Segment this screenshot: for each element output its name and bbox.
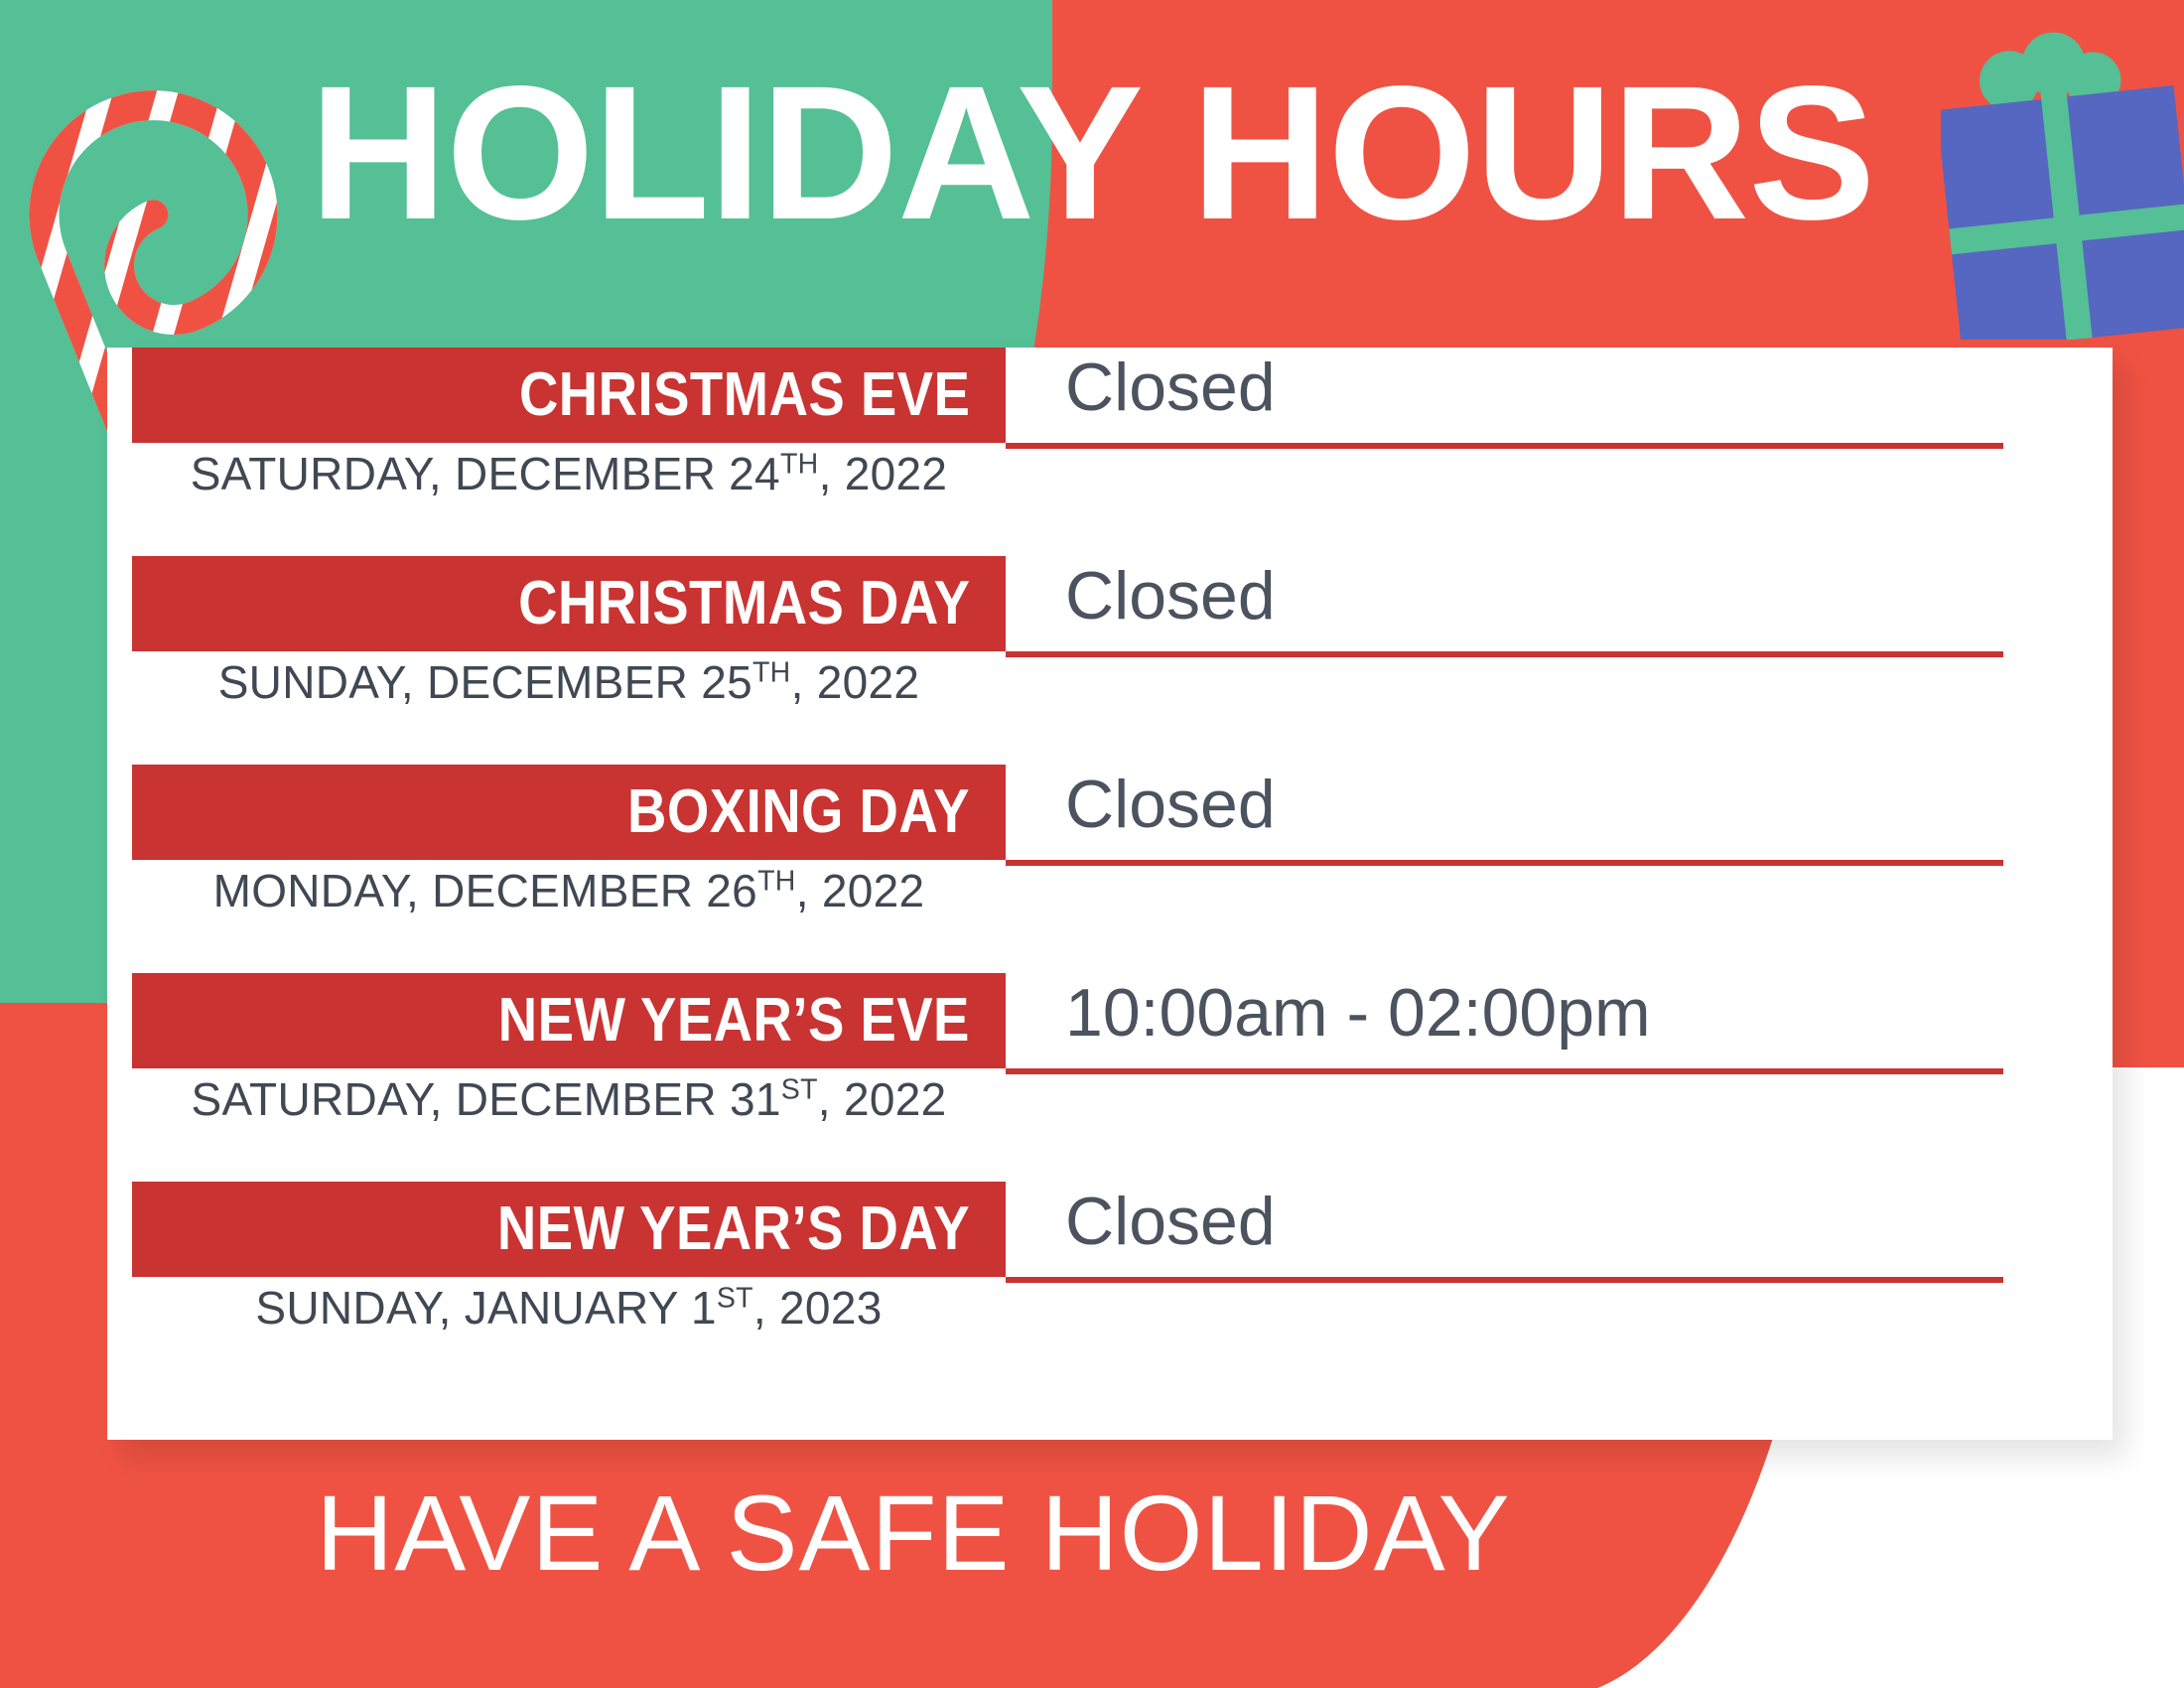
holiday-label-bar: CHRISTMAS EVE [132, 348, 1006, 443]
holiday-date-ordinal: ST [717, 1283, 753, 1315]
holiday-date-main: SUNDAY, DECEMBER 25 [218, 656, 752, 708]
holiday-date-ordinal: TH [757, 866, 796, 898]
hours-value: 10:00am - 02:00pm [1065, 979, 1651, 1047]
hours-cell: Closed [1006, 765, 2003, 864]
holiday-label: CHRISTMAS DAY [518, 573, 970, 634]
holiday-date-year: , 2022 [819, 448, 948, 499]
table-row: CHRISTMAS EVESATURDAY, DECEMBER 24TH, 20… [107, 348, 2113, 556]
holiday-label: NEW YEAR’S DAY [497, 1198, 970, 1260]
hours-cell: 10:00am - 02:00pm [1006, 973, 2003, 1072]
holiday-date-ordinal: ST [781, 1074, 818, 1106]
hours-underline [1006, 860, 2003, 866]
hours-table: CHRISTMAS EVESATURDAY, DECEMBER 24TH, 20… [107, 348, 2113, 1390]
holiday-date-ordinal: TH [780, 449, 819, 481]
holiday-date-ordinal: TH [752, 657, 791, 689]
table-row: BOXING DAYMONDAY, DECEMBER 26TH, 2022Clo… [107, 765, 2113, 973]
table-row: NEW YEAR’S EVESATURDAY, DECEMBER 31ST, 2… [107, 973, 2113, 1182]
holiday-date: MONDAY, DECEMBER 26TH, 2022 [132, 868, 1006, 914]
hours-underline [1006, 1277, 2003, 1283]
holiday-label: CHRISTMAS EVE [519, 364, 970, 426]
holiday-date: SATURDAY, DECEMBER 24TH, 2022 [132, 451, 1006, 496]
holiday-label: NEW YEAR’S EVE [498, 990, 970, 1052]
holiday-label-bar: BOXING DAY [132, 765, 1006, 860]
holiday-date-main: SATURDAY, DECEMBER 31 [192, 1073, 781, 1125]
hours-underline [1006, 651, 2003, 657]
hours-cell: Closed [1006, 1182, 2003, 1281]
hours-value: Closed [1065, 353, 1276, 421]
holiday-date-year: , 2022 [818, 1073, 947, 1125]
footer-message: HAVE A SAFE HOLIDAY [0, 1479, 1827, 1587]
hours-card: CHRISTMAS EVESATURDAY, DECEMBER 24TH, 20… [107, 348, 2113, 1440]
holiday-date: SUNDAY, JANUARY 1ST, 2023 [132, 1285, 1006, 1331]
holiday-date-year: , 2022 [791, 656, 920, 708]
holiday-date-main: MONDAY, DECEMBER 26 [213, 865, 757, 916]
hours-cell: Closed [1006, 348, 2003, 447]
table-row: CHRISTMAS DAYSUNDAY, DECEMBER 25TH, 2022… [107, 556, 2113, 765]
hours-cell: Closed [1006, 556, 2003, 655]
hours-value: Closed [1065, 771, 1276, 838]
hours-value: Closed [1065, 562, 1276, 630]
holiday-date-year: , 2022 [796, 865, 925, 916]
table-row: NEW YEAR’S DAYSUNDAY, JANUARY 1ST, 2023C… [107, 1182, 2113, 1390]
holiday-date: SATURDAY, DECEMBER 31ST, 2022 [132, 1076, 1006, 1122]
holiday-date: SUNDAY, DECEMBER 25TH, 2022 [132, 659, 1006, 705]
hours-value: Closed [1065, 1188, 1276, 1255]
holiday-date-main: SUNDAY, JANUARY 1 [255, 1282, 716, 1334]
holiday-date-main: SATURDAY, DECEMBER 24 [191, 448, 780, 499]
holiday-date-year: , 2023 [753, 1282, 883, 1334]
page-title: HOLIDAY HOURS [0, 58, 2184, 248]
holiday-label: BOXING DAY [627, 781, 970, 843]
holiday-label-bar: CHRISTMAS DAY [132, 556, 1006, 651]
hours-underline [1006, 1068, 2003, 1074]
holiday-label-bar: NEW YEAR’S DAY [132, 1182, 1006, 1277]
hours-underline [1006, 443, 2003, 449]
holiday-hours-poster: HOLIDAY HOURS CHRISTMAS EVESATURDAY, DEC… [0, 0, 2184, 1688]
holiday-label-bar: NEW YEAR’S EVE [132, 973, 1006, 1068]
